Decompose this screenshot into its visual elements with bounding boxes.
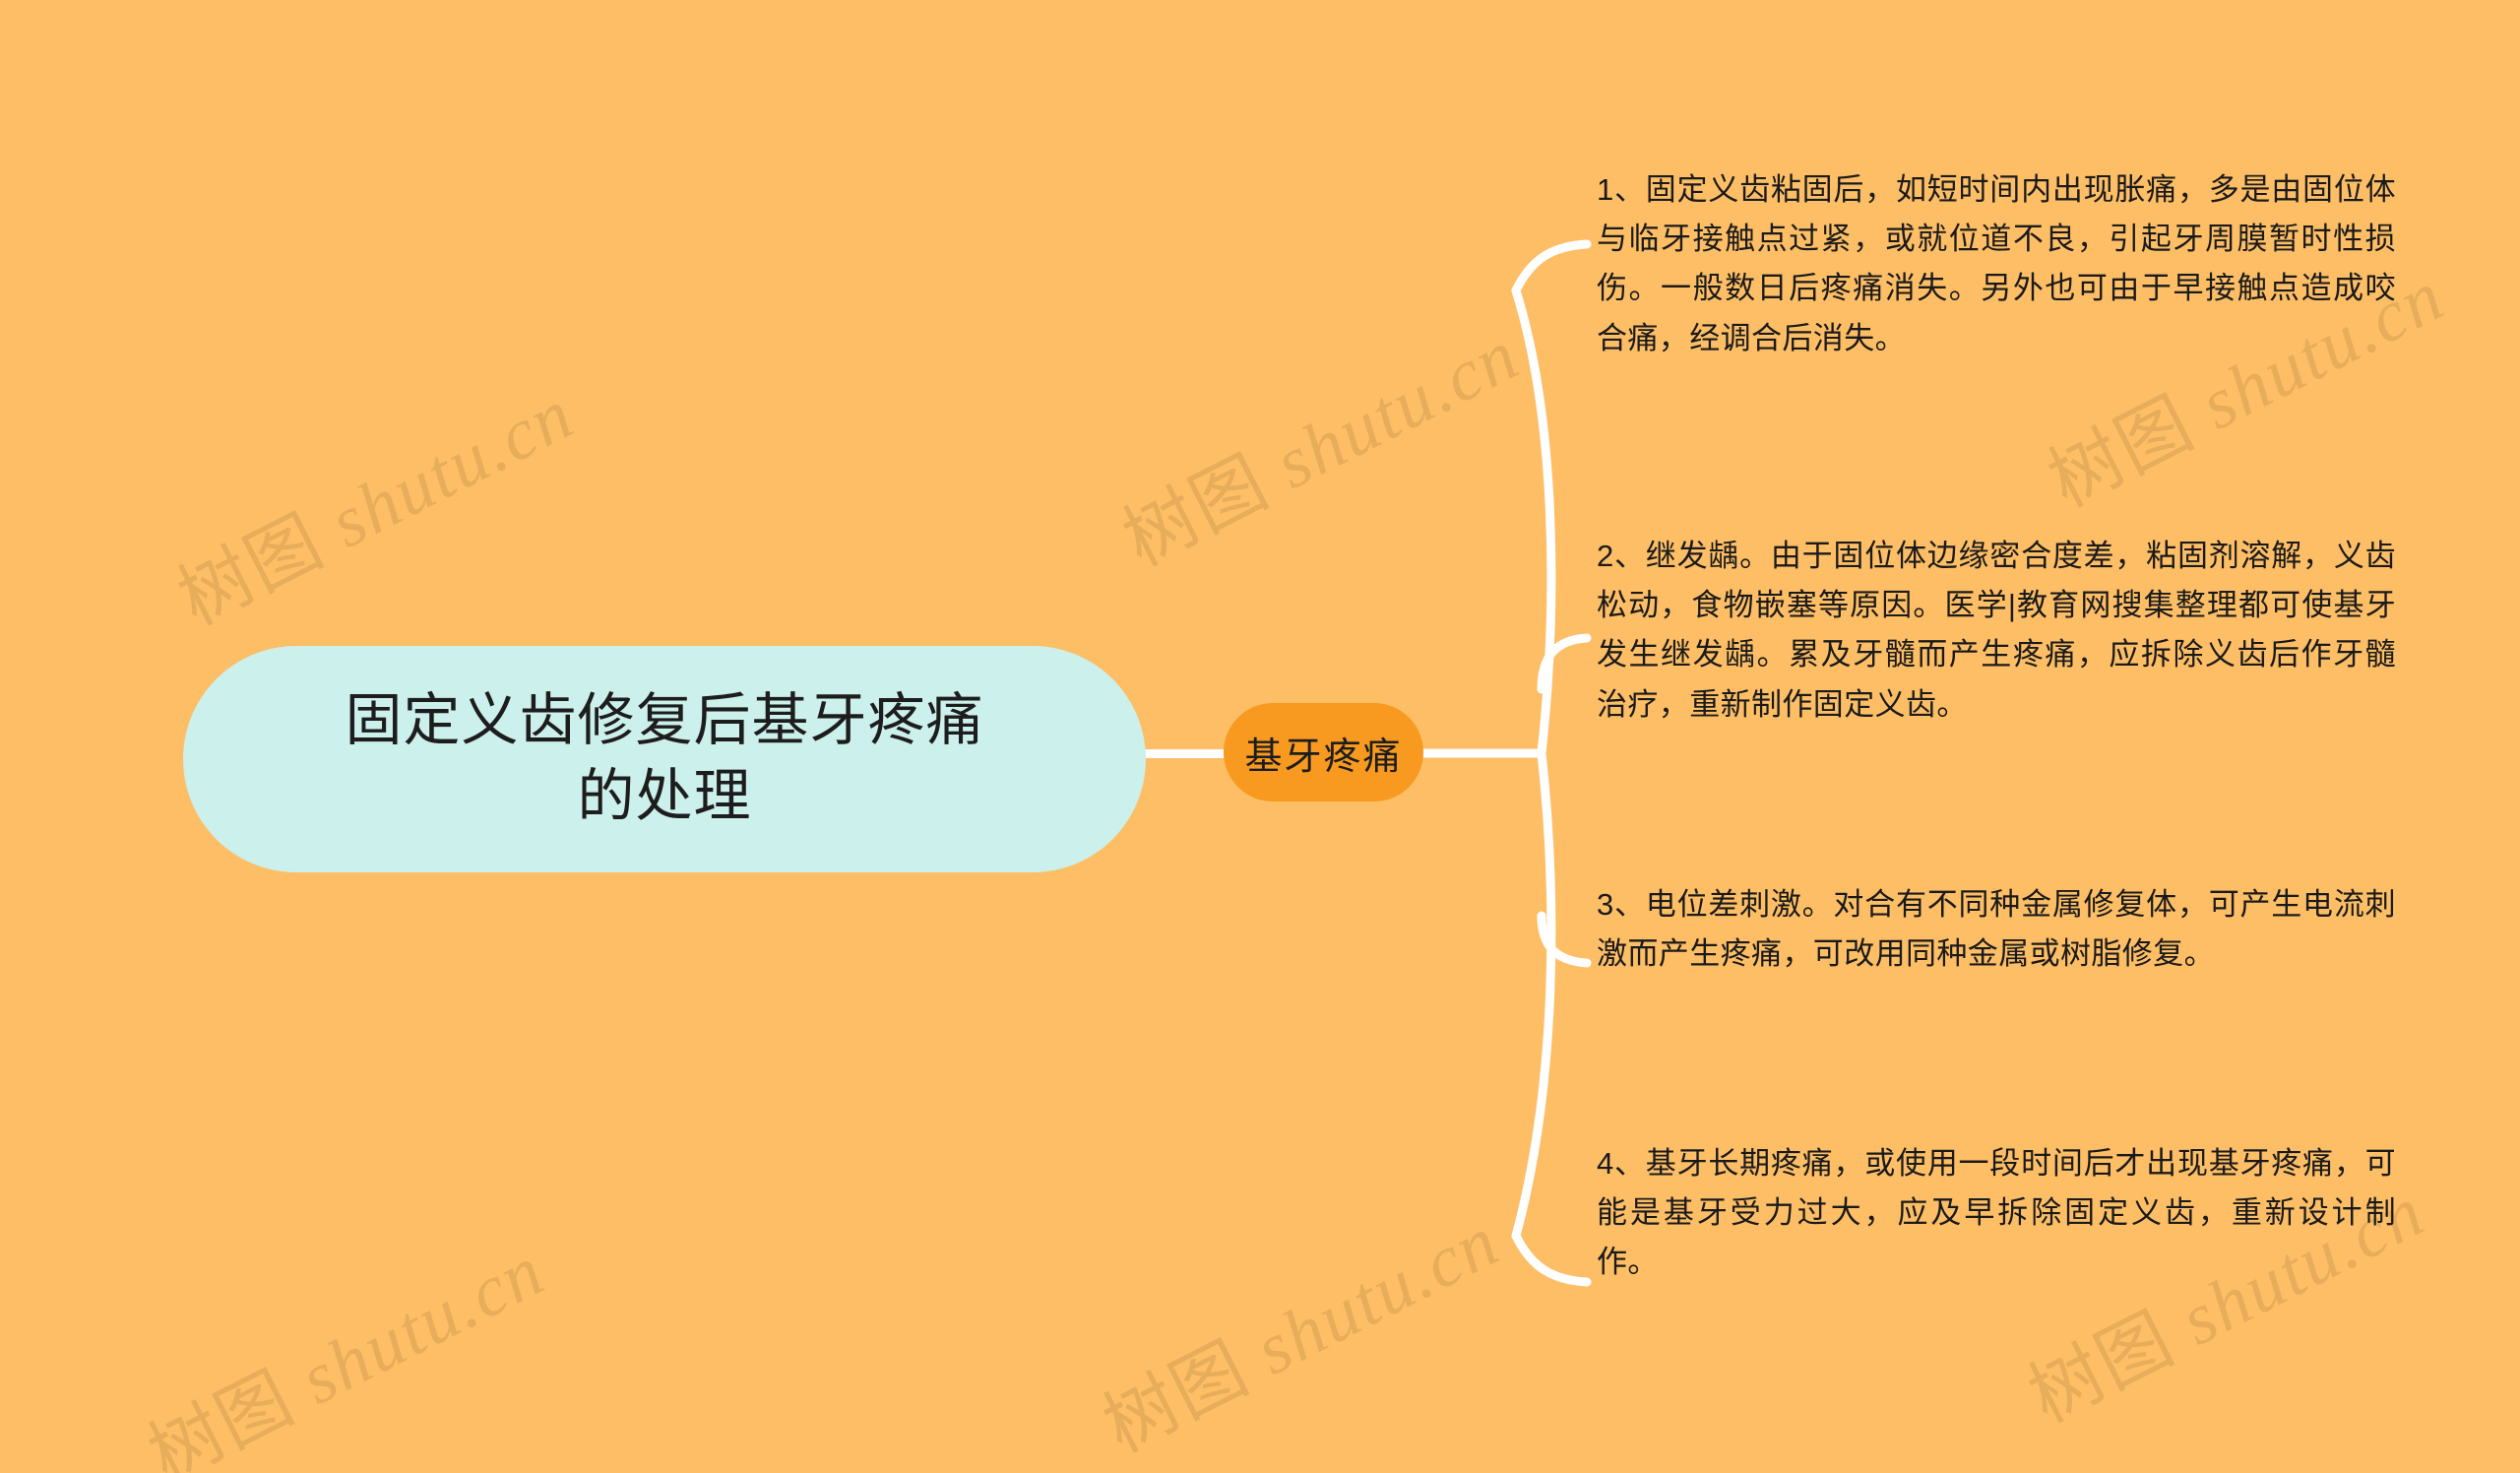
watermark-cjk: 树图 <box>2036 380 2207 524</box>
leaf-node-2[interactable]: 2、继发龋。由于固位体边缘密合度差，粘固剂溶解，义齿松动，食物嵌塞等原因。医学|… <box>1597 532 2396 730</box>
watermark-latin: shutu.cn <box>288 1230 557 1420</box>
leaf-node-3-text: 3、电位差刺激。对合有不同种金属修复体，可产生电流刺激而产生疼痛，可改用同种金属… <box>1597 880 2396 979</box>
leaf-node-4[interactable]: 4、基牙长期疼痛，或使用一段时间后才出现基牙疼痛，可能是基牙受力过大，应及早拆除… <box>1597 1139 2396 1288</box>
leaf-node-1[interactable]: 1、固定义齿粘固后，如短时间内出现胀痛，多是由固位体与临牙接触点过紧，或就位道不… <box>1597 165 2396 363</box>
watermark-cjk: 树图 <box>2016 1296 2187 1440</box>
watermark-latin: shutu.cn <box>318 373 587 563</box>
watermark: 树图 shutu.cn <box>157 356 589 646</box>
root-node-label: 固定义齿修复后基牙疼痛 的处理 <box>345 683 983 834</box>
root-node[interactable]: 固定义齿修复后基牙疼痛 的处理 <box>183 646 1146 872</box>
watermark-cjk: 树图 <box>136 1355 307 1473</box>
branch-node-toothache[interactable]: 基牙疼痛 <box>1224 703 1423 801</box>
leaf-node-4-text: 4、基牙长期疼痛，或使用一段时间后才出现基牙疼痛，可能是基牙受力过大，应及早拆除… <box>1597 1139 2396 1288</box>
leaf-node-2-text: 2、继发龋。由于固位体边缘密合度差，粘固剂溶解，义齿松动，食物嵌塞等原因。医学|… <box>1597 532 2396 730</box>
leaf-node-3[interactable]: 3、电位差刺激。对合有不同种金属修复体，可产生电流刺激而产生疼痛，可改用同种金属… <box>1597 880 2396 979</box>
branch-node-label: 基牙疼痛 <box>1244 726 1402 780</box>
watermark: 树图 shutu.cn <box>128 1213 559 1473</box>
watermark-latin: shutu.cn <box>1263 314 1532 504</box>
watermark-cjk: 树图 <box>1110 439 1282 583</box>
watermark-cjk: 树图 <box>165 498 337 642</box>
leaf-node-1-text: 1、固定义齿粘固后，如短时间内出现胀痛，多是由固位体与临牙接触点过紧，或就位道不… <box>1597 165 2396 363</box>
watermark-latin: shutu.cn <box>1243 1200 1512 1390</box>
mindmap-canvas: 树图 shutu.cn 树图 shutu.cn 树图 shutu.cn 树图 s… <box>0 0 2520 1473</box>
watermark: 树图 shutu.cn <box>1083 1184 1514 1473</box>
watermark-cjk: 树图 <box>1091 1325 1262 1469</box>
watermark: 树图 shutu.cn <box>1102 297 1534 587</box>
